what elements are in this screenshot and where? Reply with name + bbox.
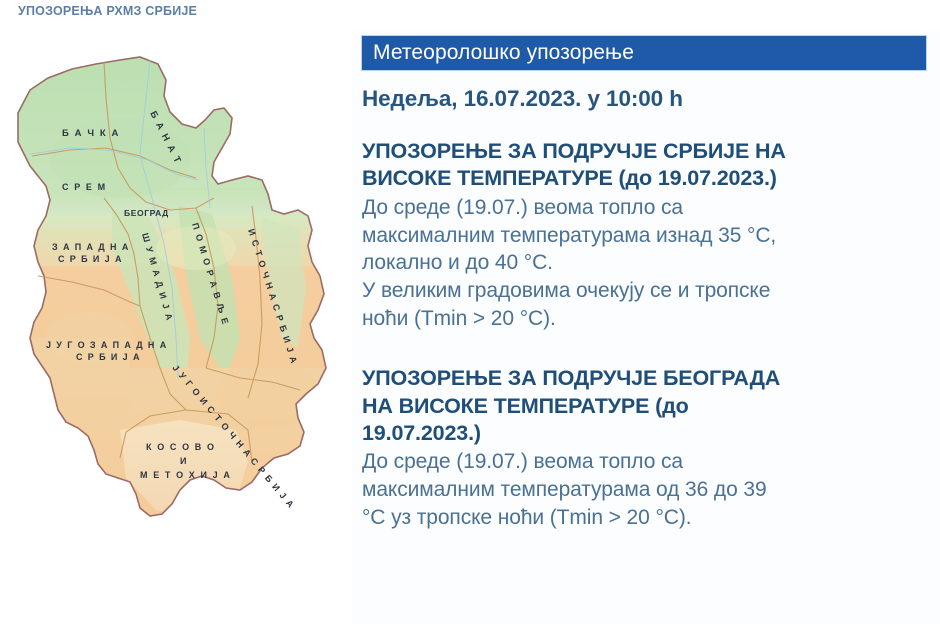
alert-serbia-body-line1: До среде (19.07.) веома топло са [362,194,932,222]
map-label-kosovo-1: К О С О В О [146,442,216,452]
alert-serbia-body: До среде (19.07.) веома топло са максима… [362,194,932,334]
alert-serbia-body-line4: У великим градовима очекују се и тропске [362,277,932,305]
map-label-zapadna-srbija-1: З А П А Д Н А [52,242,130,252]
alert-belgrade: УПОЗОРЕЊЕ ЗА ПОДРУЧЈЕ БЕОГРАДА НА ВИСОКЕ… [362,365,932,532]
alert-serbia-body-line5: ноћи (Tmin > 20 °C). [362,305,932,333]
alert-serbia-body-line3: локално и до 40 °C. [362,249,932,277]
alert-belgrade-body-line3: °C уз тропске ноћи (Tmin > 20 °C). [362,504,932,532]
map-label-beograd: БЕОГРАД [124,208,169,218]
alert-belgrade-body-line2: максималним температурама од 36 до 39 [362,476,932,504]
warning-content: Недеља, 16.07.2023. у 10:00 h УПОЗОРЕЊЕ … [362,86,932,538]
alert-serbia-heading-line2: ВИСОКЕ ТЕМПЕРАТУРЕ ( [362,166,626,190]
map-label-backa: Б А Ч К А [62,128,120,139]
alert-belgrade-heading-line1: УПОЗОРЕЊЕ ЗА ПОДРУЧЈЕ БЕОГРАДА [362,366,780,390]
map-label-kosovo-2: И [180,456,188,466]
alert-belgrade-heading-line3: 19.07.2023.) [362,421,481,445]
warning-header-label: Метеоролошко упозорење [373,41,634,65]
map-label-jugozapadna-srbija-1: Ј У Г О З А П А Д Н А [46,340,168,350]
map-label-srem: С Р Е М [62,182,107,192]
alert-separator [362,339,932,365]
serbia-region-map: Б А Ч К А Б А Н А Т С Р Е М БЕОГРАД З А … [0,38,350,598]
map-label-jugozapadna-srbija-2: С Р Б И Ј А [76,352,141,362]
alert-serbia-heading-line1: УПОЗОРЕЊЕ ЗА ПОДРУЧЈЕ СРБИЈЕ НА [362,139,786,163]
map-label-kosovo-3: М Е Т О Х И Ј А [140,470,231,480]
alert-belgrade-heading: УПОЗОРЕЊЕ ЗА ПОДРУЧЈЕ БЕОГРАДА НА ВИСОКЕ… [362,365,932,447]
alert-serbia-heading: УПОЗОРЕЊЕ ЗА ПОДРУЧЈЕ СРБИЈЕ НА ВИСОКЕ Т… [362,138,932,193]
page-title: УПОЗОРЕЊА РХМЗ СРБИЈЕ [18,4,197,18]
alert-belgrade-heading-line2: НА ВИСОКЕ ТЕМПЕРАТУРЕ ( [362,394,662,418]
warning-header-bar: Метеоролошко упозорење [361,35,927,71]
map-panel: Б А Ч К А Б А Н А Т С Р Е М БЕОГРАД З А … [0,38,350,624]
alert-serbia: УПОЗОРЕЊЕ ЗА ПОДРУЧЈЕ СРБИЈЕ НА ВИСОКЕ Т… [362,138,932,333]
alert-serbia-body-line2: максималним температурама изнад 35 °C, [362,222,932,250]
alert-belgrade-body-line1: До среде (19.07.) веома топло са [362,448,932,476]
warning-panel: Метеоролошко упозорење Недеља, 16.07.202… [352,30,940,624]
alert-belgrade-body: До среде (19.07.) веома топло са максима… [362,448,932,532]
map-label-zapadna-srbija-2: С Р Б И Ј А [58,254,123,264]
issued-datetime: Недеља, 16.07.2023. у 10:00 h [362,86,932,112]
alert-belgrade-heading-line2-lower: до [662,394,688,418]
alert-serbia-heading-line2-lower: до [626,166,652,190]
alert-serbia-heading-line2-end: 19.07.2023.) [652,166,777,190]
